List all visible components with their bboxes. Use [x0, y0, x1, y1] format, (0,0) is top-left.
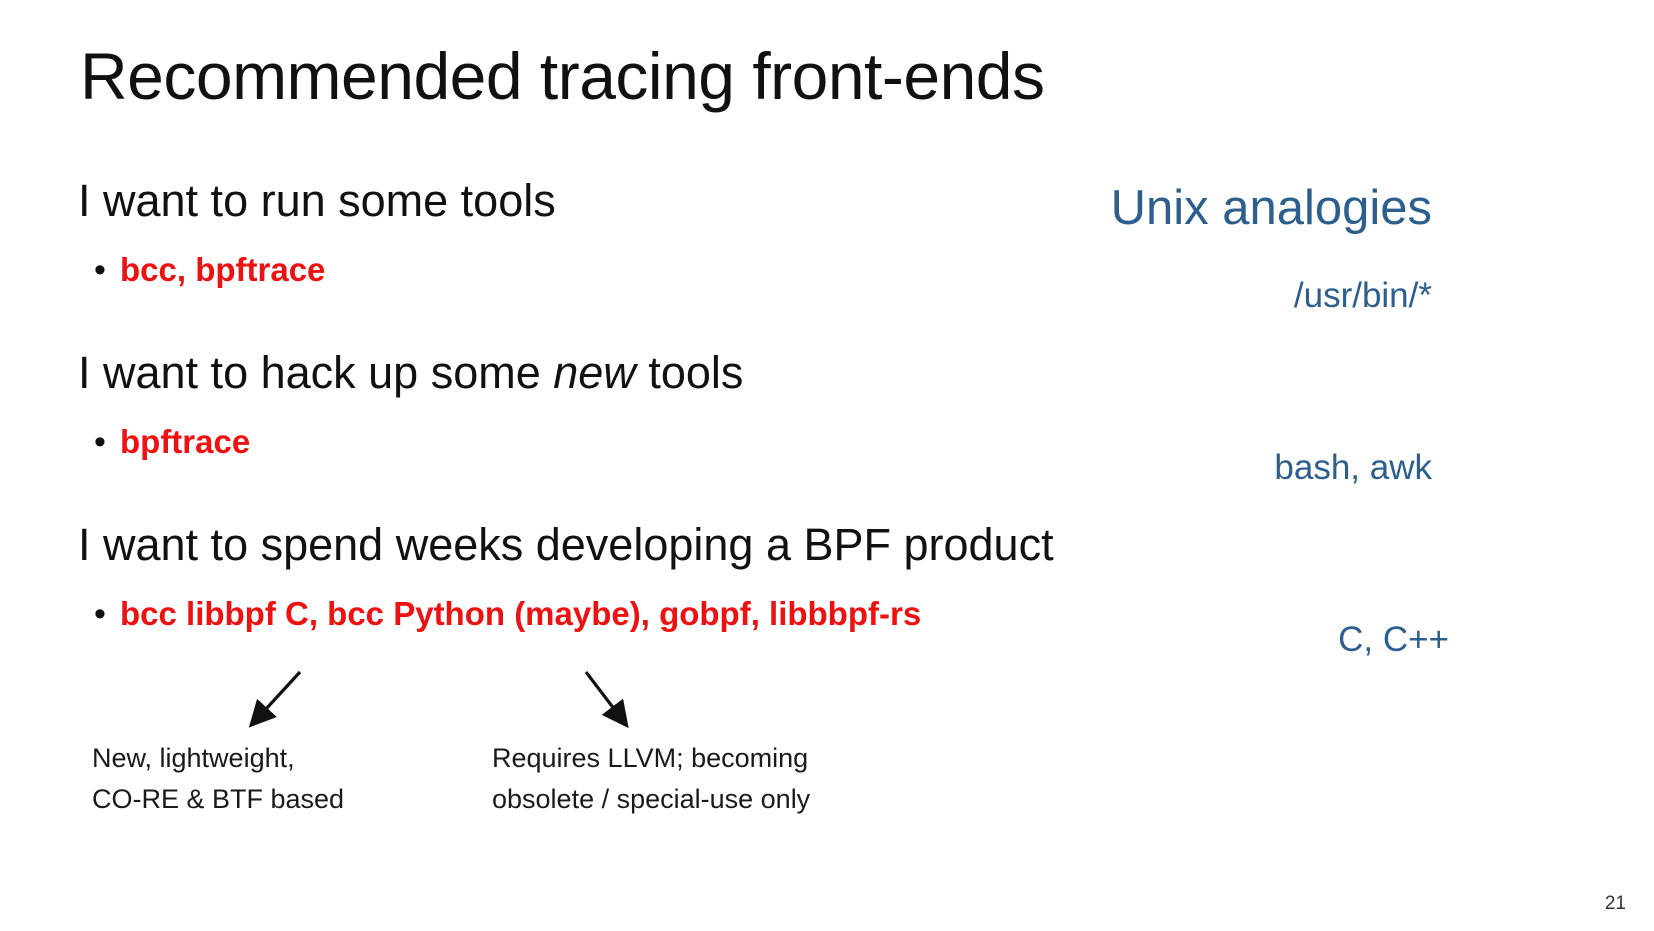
statement-2-emphasis: new	[553, 347, 636, 398]
statement-2-prefix: I want to hack up some	[78, 347, 553, 398]
bullet-icon: •	[78, 253, 120, 287]
slide-number: 21	[1605, 893, 1626, 915]
unix-analogies-heading: Unix analogies	[1111, 180, 1432, 236]
tools-1: bcc, bpftrace	[120, 251, 325, 289]
page-title: Recommended tracing front-ends	[80, 38, 1045, 114]
statement-1: I want to run some tools	[78, 178, 556, 223]
tools-2: bpftrace	[120, 423, 250, 461]
arrow-to-annotation-1	[254, 672, 300, 722]
row-group-2: I want to hack up some new tools • bpftr…	[78, 350, 743, 461]
row-group-3: I want to spend weeks developing a BPF p…	[78, 522, 1054, 633]
analogy-2: bash, awk	[1274, 448, 1432, 488]
statement-2: I want to hack up some new tools	[78, 350, 743, 395]
analogy-3: C, C++	[1338, 620, 1449, 660]
statement-1-text: I want to run some tools	[78, 175, 556, 226]
slide: Recommended tracing front-ends Unix anal…	[0, 0, 1654, 931]
bullet-item-2: • bpftrace	[78, 423, 743, 461]
row-group-1: I want to run some tools • bcc, bpftrace	[78, 178, 556, 289]
statement-3-text: I want to spend weeks developing a BPF p…	[78, 519, 1054, 570]
bullet-item-1: • bcc, bpftrace	[78, 251, 556, 289]
annotation-2: Requires LLVM; becoming obsolete / speci…	[492, 738, 810, 819]
tools-3: bcc libbpf C, bcc Python (maybe), gobpf,…	[120, 595, 921, 633]
analogy-1: /usr/bin/*	[1294, 276, 1432, 316]
statement-3: I want to spend weeks developing a BPF p…	[78, 522, 1054, 567]
bullet-icon: •	[78, 425, 120, 459]
bullet-item-3: • bcc libbpf C, bcc Python (maybe), gobp…	[78, 595, 1054, 633]
statement-2-suffix: tools	[636, 347, 744, 398]
bullet-icon: •	[78, 597, 120, 631]
arrow-to-annotation-2	[586, 672, 624, 722]
annotation-1: New, lightweight, CO-RE & BTF based	[92, 738, 344, 819]
